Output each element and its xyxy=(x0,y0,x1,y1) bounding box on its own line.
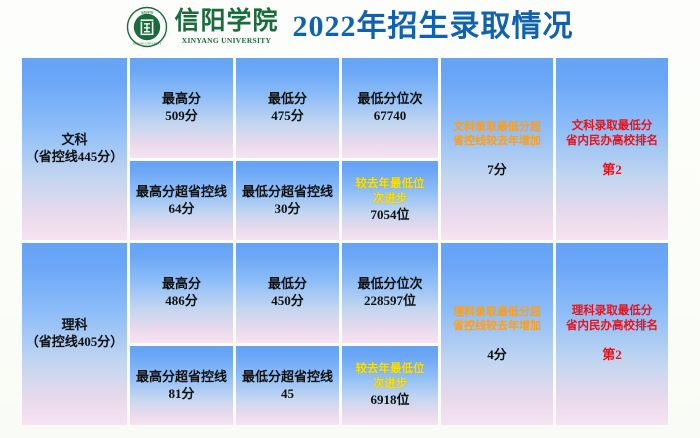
highest-score-cell: 最高分 509分 xyxy=(130,58,233,158)
score-delta-label-line2: 省控线较去年增加 xyxy=(453,319,541,333)
highest-score-column: 最高分 509分 最高分超省控线 64分 xyxy=(130,58,233,240)
page-header: 信阳学院 XINYANG UNIVERSITY 信阳学院 XINYANG UNI… xyxy=(0,0,700,54)
rank-progress-value: 7054位 xyxy=(370,207,409,224)
table-row: 理科 （省控线405分） 最高分 486分 最高分超省控线 81分 最低分 45… xyxy=(22,243,668,425)
score-delta-label-line2: 省控线较去年增加 xyxy=(453,134,541,148)
highest-over-line-label: 最高分超省控线 xyxy=(134,184,229,201)
lowest-score-column: 最低分 450分 最低分超省控线 45 xyxy=(236,243,339,425)
score-delta-value: 7分 xyxy=(487,162,507,179)
lowest-rank-value: 67740 xyxy=(374,108,407,125)
school-name-cn: 信阳学院 xyxy=(174,9,278,35)
lowest-score-value: 450分 xyxy=(271,293,304,310)
rank-progress-label-line1: 较去年最低位 xyxy=(356,177,425,192)
highest-score-column: 最高分 486分 最高分超省控线 81分 xyxy=(130,243,233,425)
lowest-score-label: 最低分 xyxy=(268,91,307,108)
school-name-en: XINYANG UNIVERSITY xyxy=(182,37,272,45)
provincial-ranking-value: 第2 xyxy=(602,347,622,364)
lowest-rank-label: 最低分位次 xyxy=(357,91,422,108)
major-name: 理科 xyxy=(61,317,87,334)
provincial-ranking-cell: 理科录取最低分 省内民办高校排名 第2 xyxy=(556,243,668,425)
rank-progress-cell: 较去年最低位 次进步 6918位 xyxy=(342,346,438,425)
major-cell: 理科 （省控线405分） xyxy=(22,243,127,425)
provincial-ranking-label-line1: 理科录取最低分 xyxy=(572,304,653,319)
provincial-ranking-value: 第2 xyxy=(602,162,622,179)
svg-text:XINYANG UNIVERSITY: XINYANG UNIVERSITY xyxy=(133,43,162,46)
provincial-ranking-cell: 文科录取最低分 省内民办高校排名 第2 xyxy=(556,58,668,240)
page-root: 信阳学院 XINYANG UNIVERSITY 信阳学院 XINYANG UNI… xyxy=(0,0,700,438)
lowest-rank-value: 228597位 xyxy=(364,293,416,310)
lowest-score-cell: 最低分 475分 xyxy=(236,58,339,158)
highest-score-label: 最高分 xyxy=(162,276,201,293)
highest-over-line-label: 最高分超省控线 xyxy=(134,369,229,386)
lowest-rank-label: 最低分位次 xyxy=(357,276,422,293)
rank-progress-label-line2: 次进步 xyxy=(373,192,408,207)
highest-score-value: 509分 xyxy=(165,108,198,125)
lowest-over-line-cell: 最低分超省控线 30分 xyxy=(236,161,339,240)
provincial-ranking-label-line2: 省内民办高校排名 xyxy=(566,319,658,334)
highest-score-cell: 最高分 486分 xyxy=(130,243,233,343)
provincial-ranking-label-line2: 省内民办高校排名 xyxy=(566,134,658,149)
admissions-table: 文科 （省控线445分） 最高分 509分 最高分超省控线 64分 最低分 47… xyxy=(22,58,668,425)
lowest-rank-cell: 最低分位次 228597位 xyxy=(342,243,438,343)
page-title: 2022年招生录取情况 xyxy=(293,12,574,42)
lowest-score-value: 475分 xyxy=(271,108,304,125)
lowest-over-line-label: 最低分超省控线 xyxy=(240,369,335,386)
highest-over-line-value: 64分 xyxy=(168,201,194,218)
rank-progress-label-line2: 次进步 xyxy=(373,377,408,392)
rank-column: 最低分位次 67740 较去年最低位 次进步 7054位 xyxy=(342,58,438,240)
major-name: 文科 xyxy=(61,132,87,149)
highest-score-value: 486分 xyxy=(165,293,198,310)
highest-score-label: 最高分 xyxy=(162,91,201,108)
school-name: 信阳学院 XINYANG UNIVERSITY xyxy=(174,9,278,45)
score-delta-cell: 文科录取最低分超 省控线较去年增加 7分 xyxy=(441,58,553,240)
university-seal-icon: 信阳学院 XINYANG UNIVERSITY xyxy=(126,6,168,48)
rank-progress-value: 6918位 xyxy=(370,392,409,409)
lowest-score-cell: 最低分 450分 xyxy=(236,243,339,343)
lowest-score-column: 最低分 475分 最低分超省控线 30分 xyxy=(236,58,339,240)
lowest-over-line-value: 45 xyxy=(281,386,294,403)
provincial-ranking-label-line1: 文科录取最低分 xyxy=(572,119,653,134)
svg-text:信阳学院: 信阳学院 xyxy=(141,9,153,14)
major-cell: 文科 （省控线445分） xyxy=(22,58,127,240)
lowest-over-line-cell: 最低分超省控线 45 xyxy=(236,346,339,425)
score-delta-label-line1: 理科录取最低分超 xyxy=(453,305,541,319)
lowest-over-line-value: 30分 xyxy=(274,201,300,218)
score-delta-label-line1: 文科录取最低分超 xyxy=(453,120,541,134)
header-inner: 信阳学院 XINYANG UNIVERSITY 信阳学院 XINYANG UNI… xyxy=(126,6,573,48)
rank-progress-label-line1: 较去年最低位 xyxy=(356,362,425,377)
rank-column: 最低分位次 228597位 较去年最低位 次进步 6918位 xyxy=(342,243,438,425)
highest-over-line-cell: 最高分超省控线 64分 xyxy=(130,161,233,240)
rank-progress-cell: 较去年最低位 次进步 7054位 xyxy=(342,161,438,240)
score-delta-value: 4分 xyxy=(487,347,507,364)
lowest-score-label: 最低分 xyxy=(268,276,307,293)
highest-over-line-cell: 最高分超省控线 81分 xyxy=(130,346,233,425)
score-delta-cell: 理科录取最低分超 省控线较去年增加 4分 xyxy=(441,243,553,425)
major-control-line: （省控线405分） xyxy=(26,334,124,351)
lowest-over-line-label: 最低分超省控线 xyxy=(240,184,335,201)
major-control-line: （省控线445分） xyxy=(26,149,124,166)
highest-over-line-value: 81分 xyxy=(168,386,194,403)
table-row: 文科 （省控线445分） 最高分 509分 最高分超省控线 64分 最低分 47… xyxy=(22,58,668,240)
lowest-rank-cell: 最低分位次 67740 xyxy=(342,58,438,158)
